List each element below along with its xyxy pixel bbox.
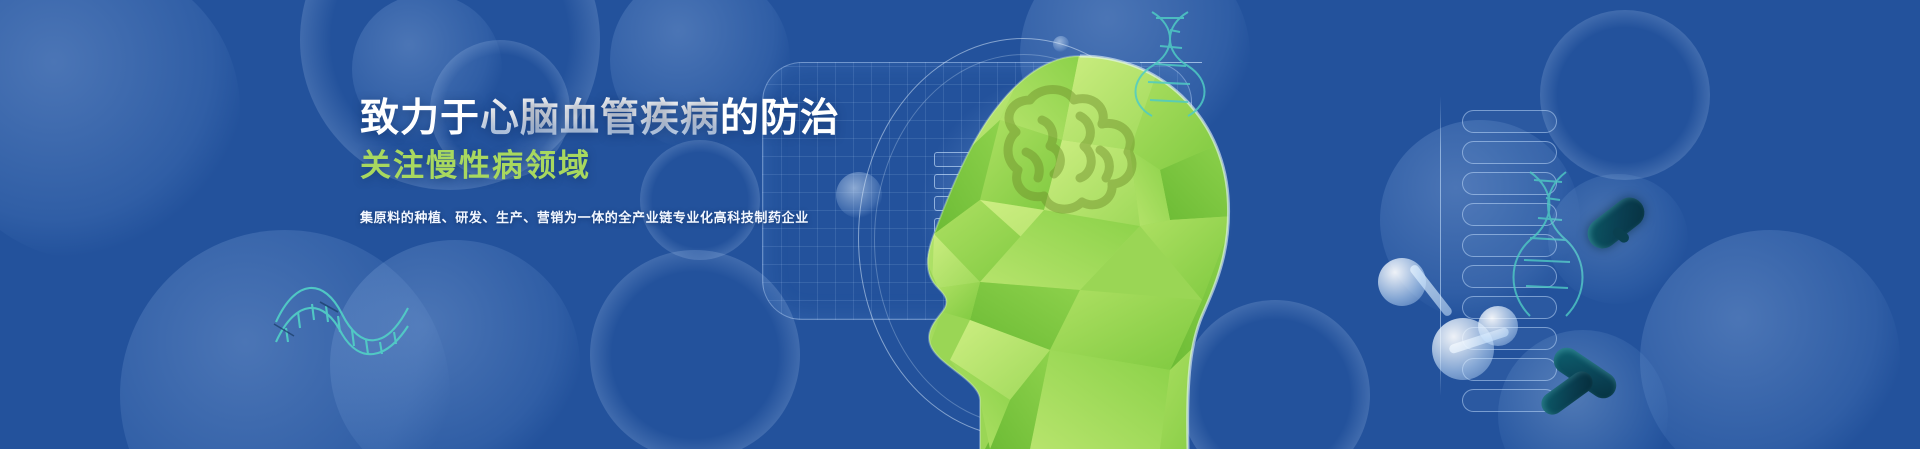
molecule-node <box>1378 258 1426 306</box>
banner-copy: 致力于心脑血管疾病的防治 关注慢性病领域 集原料的种植、研发、生产、营销为一体的… <box>360 96 790 228</box>
microbe-rod-lower <box>1498 330 1668 449</box>
bokeh-circle <box>0 0 240 260</box>
head-graphic <box>830 20 1350 449</box>
hero-banner: 致力于心脑血管疾病的防治 关注慢性病领域 集原料的种植、研发、生产、营销为一体的… <box>0 0 1920 449</box>
headline-lead: 致力于 <box>360 97 480 140</box>
headline-keyword: 心脑血管疾病 <box>480 97 720 140</box>
capsule-slot <box>1462 110 1557 133</box>
banner-subhead: 关注慢性病领域 <box>360 146 790 186</box>
capsule-slot <box>1462 141 1557 164</box>
headline-trail: 的防治 <box>720 97 840 140</box>
low-poly-head-svg <box>830 20 1350 449</box>
microbe-rod-upper <box>1548 174 1688 304</box>
banner-tagline: 集原料的种植、研发、生产、营销为一体的全产业链专业化高科技制药企业 <box>360 208 790 228</box>
dna-helix-top-right <box>1130 8 1220 118</box>
bokeh-ring <box>1540 10 1710 180</box>
page-title: 致力于心脑血管疾病的防治 <box>360 96 790 142</box>
dna-helix-left <box>268 250 418 360</box>
